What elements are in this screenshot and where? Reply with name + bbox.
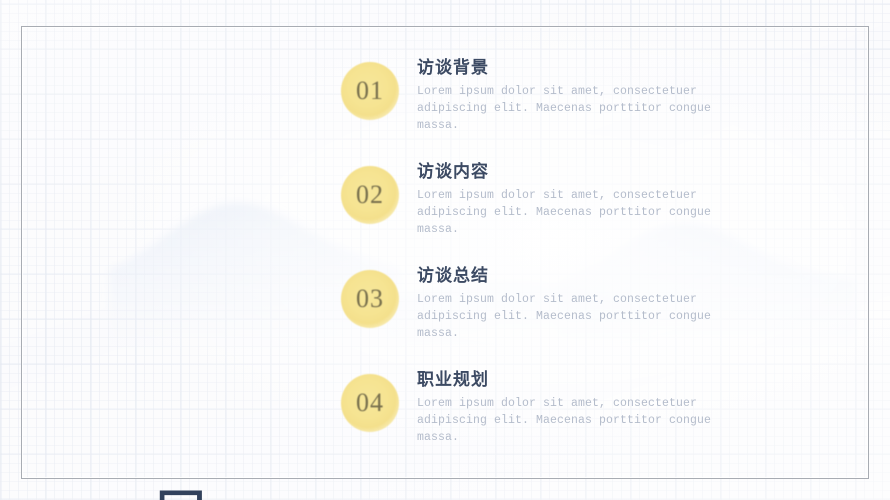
agenda-text-3: 访谈总结 Lorem ipsum dolor sit amet, consect…	[417, 264, 747, 342]
agenda-list: 01 访谈背景 Lorem ipsum dolor sit amet, cons…	[341, 56, 761, 472]
presentation-slide: 目 录 01 访谈背景 Lorem ipsum dolor sit amet, …	[0, 0, 890, 500]
agenda-number-2: 02	[356, 182, 384, 208]
agenda-number-badge-1: 01	[341, 62, 399, 120]
agenda-title-2: 访谈内容	[417, 160, 747, 184]
agenda-title-4: 职业规划	[417, 368, 747, 392]
agenda-number-badge-3: 03	[341, 270, 399, 328]
page-title: 目 录	[122, 132, 242, 500]
agenda-number-badge-4: 04	[341, 374, 399, 432]
agenda-number-4: 04	[356, 390, 384, 416]
agenda-number-badge-2: 02	[341, 166, 399, 224]
agenda-item-3[interactable]: 03 访谈总结 Lorem ipsum dolor sit amet, cons…	[341, 264, 761, 368]
agenda-number-1: 01	[356, 78, 384, 104]
agenda-item-4[interactable]: 04 职业规划 Lorem ipsum dolor sit amet, cons…	[341, 368, 761, 472]
agenda-description-4: Lorem ipsum dolor sit amet, consectetuer…	[417, 395, 729, 446]
agenda-text-2: 访谈内容 Lorem ipsum dolor sit amet, consect…	[417, 160, 747, 238]
agenda-description-3: Lorem ipsum dolor sit amet, consectetuer…	[417, 291, 729, 342]
agenda-text-4: 职业规划 Lorem ipsum dolor sit amet, consect…	[417, 368, 747, 446]
agenda-text-1: 访谈背景 Lorem ipsum dolor sit amet, consect…	[417, 56, 747, 134]
page-title-char-1: 目	[122, 442, 242, 500]
agenda-number-3: 03	[356, 286, 384, 312]
agenda-title-3: 访谈总结	[417, 264, 747, 288]
agenda-item-1[interactable]: 01 访谈背景 Lorem ipsum dolor sit amet, cons…	[341, 56, 761, 160]
agenda-item-2[interactable]: 02 访谈内容 Lorem ipsum dolor sit amet, cons…	[341, 160, 761, 264]
agenda-title-1: 访谈背景	[417, 56, 747, 80]
agenda-description-1: Lorem ipsum dolor sit amet, consectetuer…	[417, 83, 729, 134]
agenda-description-2: Lorem ipsum dolor sit amet, consectetuer…	[417, 187, 729, 238]
